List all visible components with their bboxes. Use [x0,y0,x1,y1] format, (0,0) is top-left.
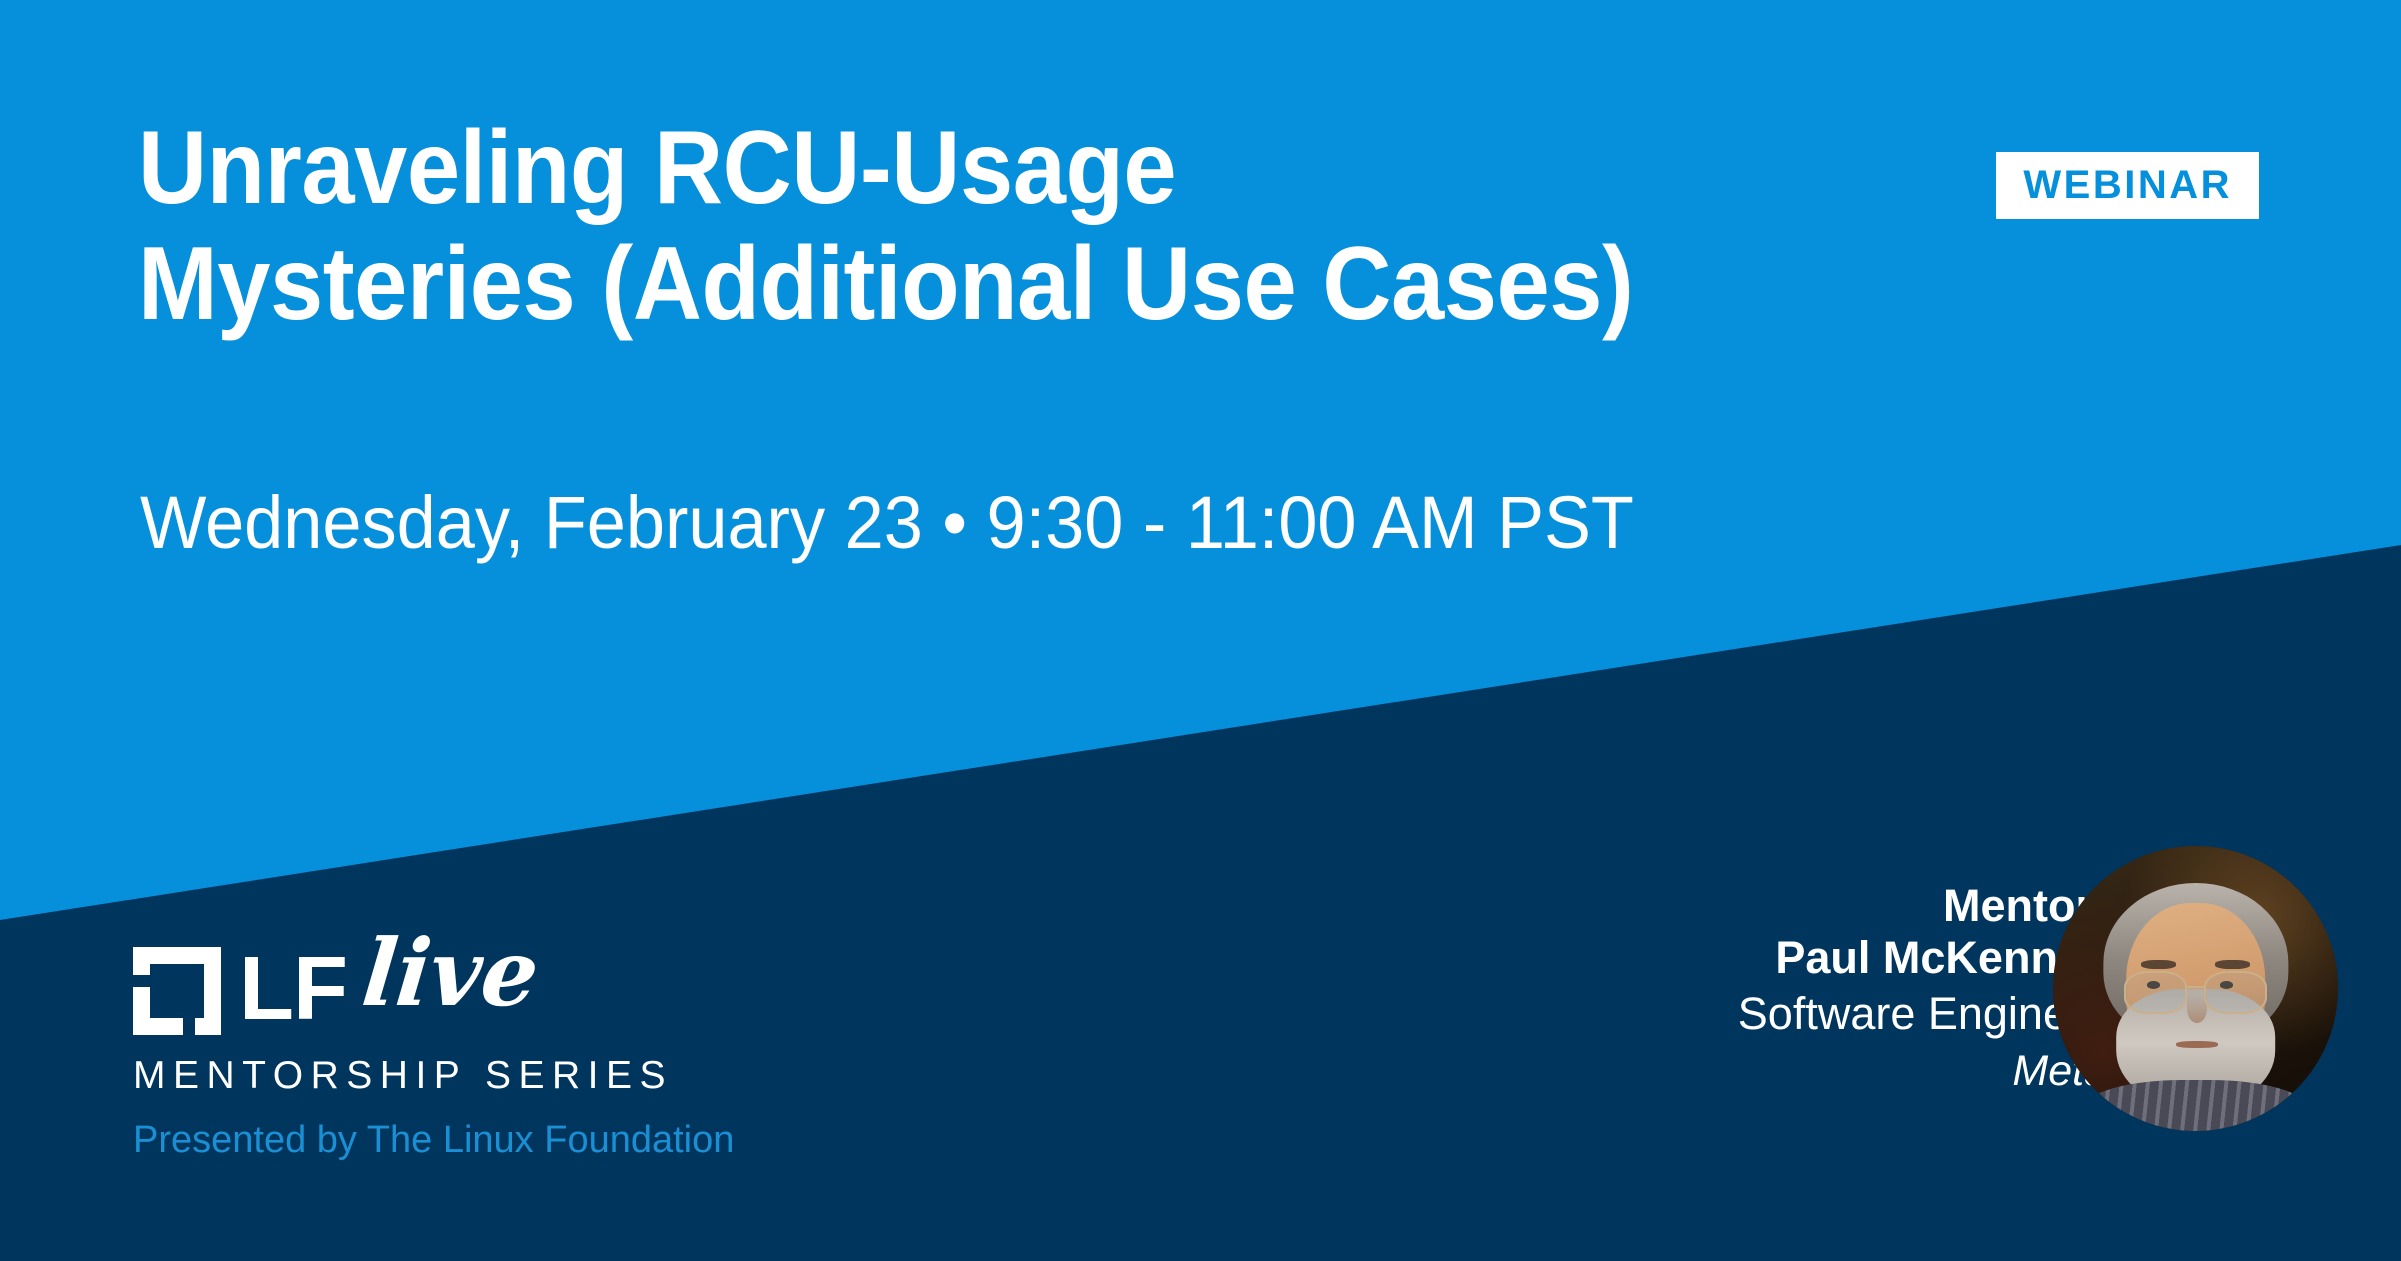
webinar-banner: WEBINAR Unraveling RCU-Usage Mysteries (… [0,0,2401,1261]
logo-wordmark-row: LF live [133,945,734,1041]
logo-live-script-text: live [359,931,542,1015]
lf-live-logo: LF live MENTORSHIP SERIES Presented by T… [133,945,734,1162]
webinar-badge: WEBINAR [1996,152,2259,219]
title-line-2: Mysteries (Additional Use Cases) [138,226,2033,342]
logo-lf-text: LF [239,945,347,1033]
avatar-photo [2053,846,2338,1131]
lf-bracket-mark-icon [133,947,221,1035]
presented-by-text: Presented by The Linux Foundation [133,1119,734,1162]
event-datetime: Wednesday, February 23 • 9:30 - 11:00 AM… [140,480,1634,566]
page-title: Unraveling RCU-Usage Mysteries (Addition… [138,110,2198,342]
avatar [2053,846,2338,1131]
logo-series-subtitle: MENTORSHIP SERIES [133,1054,734,1098]
title-line-1: Unraveling RCU-Usage [138,110,2033,226]
